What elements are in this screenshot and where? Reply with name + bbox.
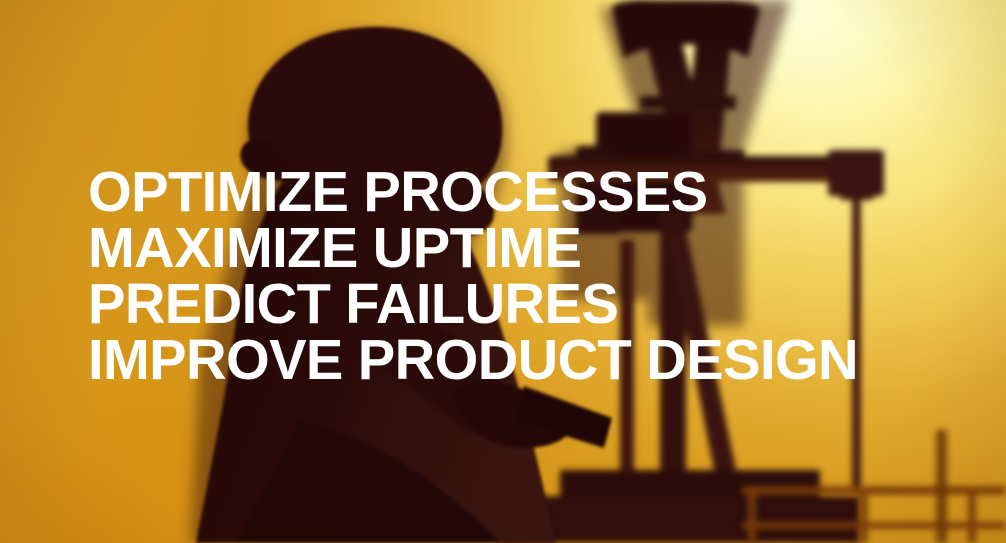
headline-line-3: PREDICT FAILURES: [88, 276, 858, 332]
headline-line-2: MAXIMIZE UPTIME: [88, 220, 858, 276]
hero-banner: OPTIMIZE PROCESSES MAXIMIZE UPTIME PREDI…: [0, 0, 1006, 543]
headline-line-4: IMPROVE PRODUCT DESIGN: [88, 332, 858, 388]
headline-line-1: OPTIMIZE PROCESSES: [88, 164, 858, 220]
headline-block: OPTIMIZE PROCESSES MAXIMIZE UPTIME PREDI…: [88, 164, 870, 388]
